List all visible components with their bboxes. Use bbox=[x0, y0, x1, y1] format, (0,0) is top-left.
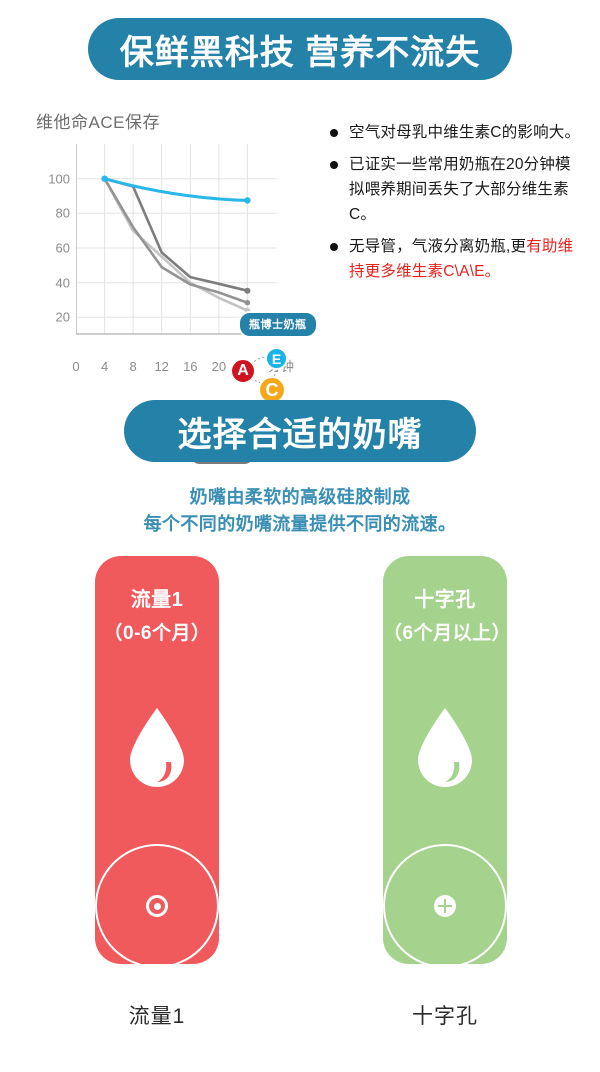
infographic-page: 保鲜黑科技 营养不流失 维他命ACE保存 bbox=[0, 0, 600, 1072]
chart-series-gray-a bbox=[105, 179, 248, 291]
bullet-dot-icon bbox=[330, 243, 338, 251]
chart-xtick-16: 16 bbox=[183, 359, 197, 374]
chart-ytick-20: 20 bbox=[36, 310, 70, 325]
nipple-card-cross-subtitle: （6个月以上） bbox=[383, 617, 507, 650]
chart-ytick-40: 40 bbox=[36, 275, 70, 290]
nipple-sub-caption: 奶嘴由柔软的高级硅胶制成 每个不同的奶嘴流量提供不同的流速。 bbox=[0, 484, 600, 538]
nipple-card-flow1-subtitle: （0-6个月） bbox=[95, 617, 219, 650]
chart-xtick-20: 20 bbox=[212, 359, 226, 374]
bullet-dot-icon bbox=[330, 161, 338, 169]
chart-xtick-0: 0 bbox=[72, 359, 79, 374]
vitamin-a-badge: A bbox=[230, 358, 256, 384]
chart-ytick-60: 60 bbox=[36, 241, 70, 256]
chart-axes bbox=[76, 144, 281, 334]
banner-heading-1: 保鲜黑科技 营养不流失 bbox=[88, 18, 512, 80]
water-drop-icon bbox=[414, 706, 476, 790]
benefit-bullet-list: 空气对母乳中维生素C的影响大。 已证实一些常用奶瓶在20分钟模拟喂养期间丢失了大… bbox=[330, 120, 586, 291]
nipple-card-cross-title-text: 十字孔 bbox=[383, 584, 507, 617]
chart-title: 维他命ACE保存 bbox=[36, 108, 160, 133]
nipple-sub-caption-line-1: 奶嘴由柔软的高级硅胶制成 bbox=[0, 484, 600, 511]
nipple-card-cross-caption: 十字孔 bbox=[383, 1000, 507, 1030]
bullet-text-3-plain: 无导管，气液分离奶瓶,更 bbox=[349, 238, 526, 255]
vitamin-retention-chart: 维他命ACE保存 bbox=[30, 108, 310, 378]
nipple-hole-ring-flow1 bbox=[95, 844, 219, 964]
bullet-text-2: 已证实一些常用奶瓶在20分钟模拟喂养期间丢失了大部分维生素C。 bbox=[349, 152, 586, 227]
banner-heading-2-text: 选择合适的奶嘴 bbox=[178, 407, 423, 456]
water-drop-icon bbox=[126, 706, 188, 790]
chart-series-blue bbox=[105, 179, 248, 201]
single-hole-icon bbox=[146, 895, 168, 917]
nipple-card-flow1-caption: 流量1 bbox=[95, 1000, 219, 1030]
nipple-sub-caption-line-2: 每个不同的奶嘴流量提供不同的流速。 bbox=[0, 511, 600, 538]
banner-heading-2: 选择合适的奶嘴 bbox=[124, 400, 476, 462]
chart-legend-tag-premium: 瓶博士奶瓶 bbox=[238, 311, 318, 338]
list-item: 已证实一些常用奶瓶在20分钟模拟喂养期间丢失了大部分维生素C。 bbox=[330, 152, 586, 227]
bullet-text-1: 空气对母乳中维生素C的影响大。 bbox=[349, 120, 580, 145]
chart-xtick-4: 4 bbox=[101, 359, 108, 374]
chart-gridlines bbox=[76, 144, 276, 334]
chart-ytick-100: 100 bbox=[36, 171, 70, 186]
chart-xtick-12: 12 bbox=[154, 359, 168, 374]
cross-hole-icon bbox=[434, 895, 456, 917]
chart-endpoint-markers bbox=[101, 176, 250, 314]
chart-ytick-80: 80 bbox=[36, 206, 70, 221]
list-item: 空气对母乳中维生素C的影响大。 bbox=[330, 120, 586, 145]
bullet-text-3: 无导管，气液分离奶瓶,更有助维持更多维生素C\A\E。 bbox=[349, 234, 586, 284]
bullet-dot-icon bbox=[330, 129, 338, 137]
nipple-card-flow1-title-text: 流量1 bbox=[95, 584, 219, 617]
banner-heading-1-text: 保鲜黑科技 营养不流失 bbox=[120, 25, 480, 74]
nipple-card-cross[interactable]: 十字孔 （6个月以上） bbox=[383, 556, 507, 964]
nipple-card-flow1[interactable]: 流量1 （0-6个月） bbox=[95, 556, 219, 964]
vitamin-e-badge: E bbox=[265, 347, 288, 370]
chart-series-gray-b bbox=[105, 179, 248, 303]
nipple-card-flow1-title: 流量1 （0-6个月） bbox=[95, 584, 219, 650]
list-item: 无导管，气液分离奶瓶,更有助维持更多维生素C\A\E。 bbox=[330, 234, 586, 284]
chart-xtick-8: 8 bbox=[129, 359, 136, 374]
nipple-card-cross-title: 十字孔 （6个月以上） bbox=[383, 584, 507, 650]
nipple-hole-ring-cross bbox=[383, 844, 507, 964]
